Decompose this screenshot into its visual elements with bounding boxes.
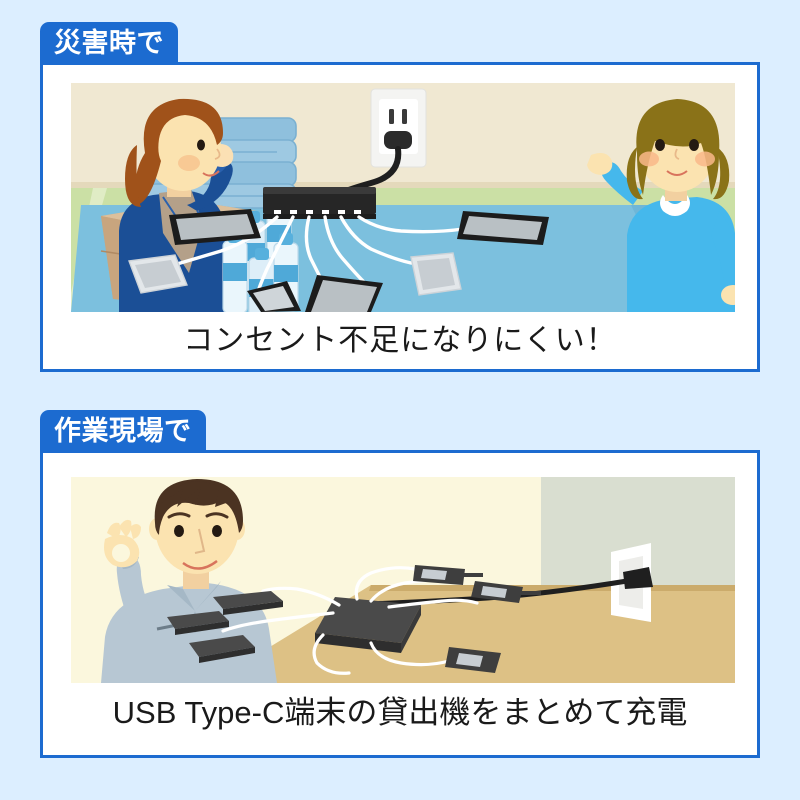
usb-charging-hub	[263, 187, 376, 219]
tab-label-worksite[interactable]: 作業現場で	[40, 410, 206, 452]
caption-worksite: USB Type-C端末の貸出機をまとめて充電	[43, 687, 757, 732]
page-root: 災害時で	[0, 0, 800, 800]
card-disaster: コンセント不足になりにくい！	[40, 62, 760, 372]
panel-worksite: 作業現場で	[40, 410, 760, 758]
caption-disaster: コンセント不足になりにくい！	[43, 315, 757, 359]
tablet-device-right	[457, 211, 549, 245]
illustration-disaster-shelter	[71, 83, 735, 312]
worksite-scene-svg	[71, 477, 735, 683]
panel-disaster: 災害時で	[40, 22, 760, 372]
disaster-scene-svg	[71, 83, 735, 312]
card-worksite: USB Type-C端末の貸出機をまとめて充電	[40, 450, 760, 758]
tab-label-disaster[interactable]: 災害時で	[40, 22, 178, 64]
illustration-worksite-desk	[71, 477, 735, 683]
tablet-device-white-right	[411, 253, 461, 295]
